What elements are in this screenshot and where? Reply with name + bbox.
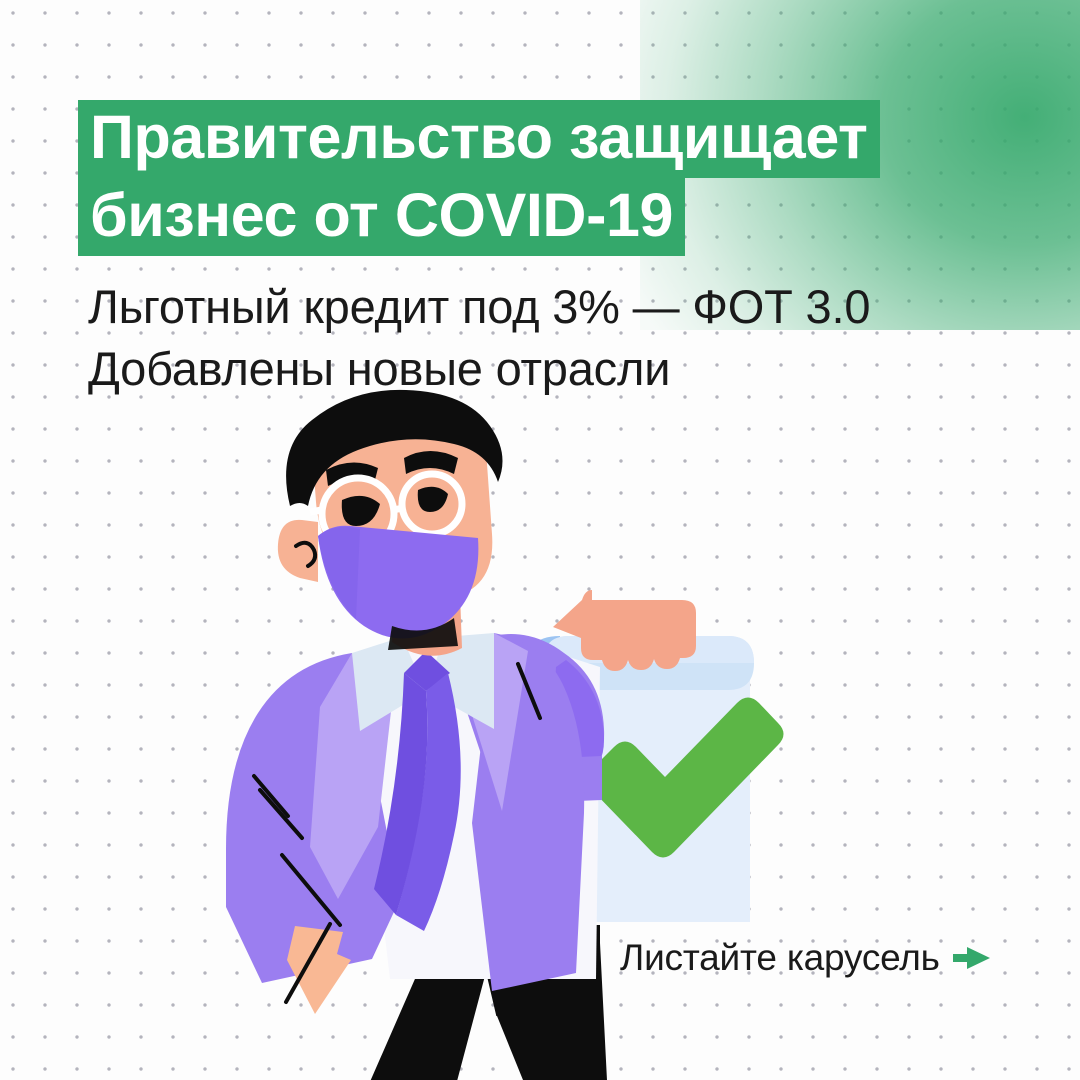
subtitle: Льготный кредит под 3% — ФОТ 3.0 Добавле… [88, 276, 870, 400]
carousel-cta-label: Листайте карусель [620, 936, 940, 980]
poster-canvas: Правительство защищает бизнес от COVID-1… [0, 0, 1080, 1080]
arrow-right-icon[interactable] [953, 944, 991, 972]
head [278, 390, 503, 650]
carousel-cta[interactable]: Листайте карусель [620, 936, 991, 980]
subtitle-line-2: Добавлены новые отрасли [88, 338, 870, 400]
headline: Правительство защищает бизнес от COVID-1… [78, 100, 880, 256]
headline-line-1: Правительство защищает [78, 100, 880, 178]
hip-hand [286, 924, 351, 1014]
headline-line-2: бизнес от COVID-19 [78, 178, 685, 256]
subtitle-line-1: Льготный кредит под 3% — ФОТ 3.0 [88, 276, 870, 338]
